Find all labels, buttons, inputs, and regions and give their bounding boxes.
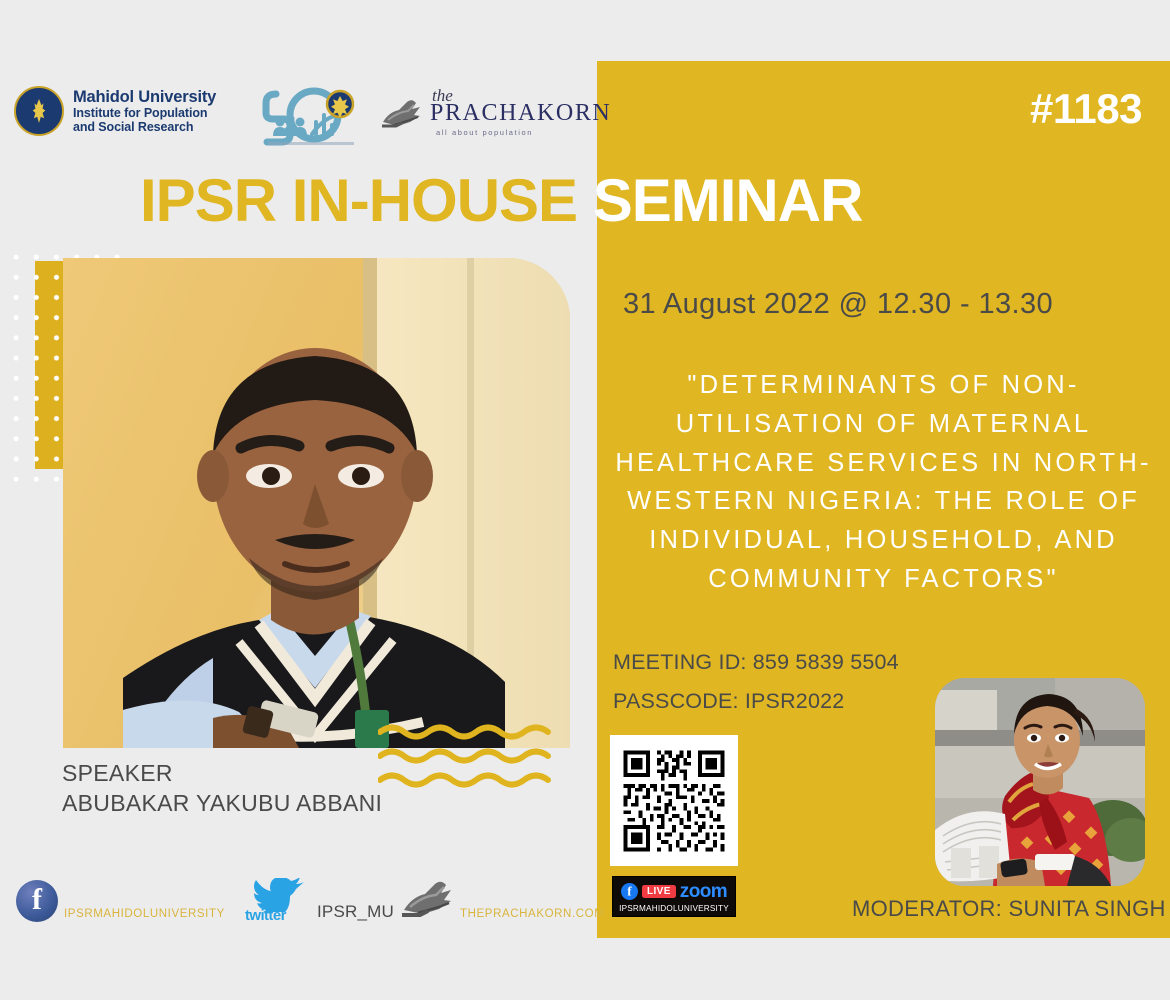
facebook-icon [16, 880, 58, 922]
moderator-photo [935, 678, 1145, 886]
moderator-label: MODERATOR: SUNITA SINGH [852, 896, 1166, 922]
social-link-twitter[interactable]: twitter IPSR_MU [245, 878, 394, 924]
headline-part-a: IPSR IN-HOUSE [140, 167, 593, 234]
meeting-id: MEETING ID: 859 5839 5504 [613, 650, 899, 675]
speaker-portrait-illustration [63, 258, 570, 748]
website-handle: THEPRACHAKORN.COM [460, 908, 604, 922]
prachakorn-dove-icon [380, 98, 426, 132]
speaker-photo [63, 258, 570, 748]
ipsr-50th-anniversary-icon [258, 82, 364, 148]
prachakorn-dove-icon [400, 878, 458, 922]
seminar-title: "Determinants of non-utilisation of mate… [607, 366, 1160, 599]
social-links-row: IPSRMAHIDOLUNIVERSITY twitter IPSR_MU T [0, 878, 597, 934]
event-date-time: 31 August 2022 @ 12.30 - 13.30 [623, 288, 1053, 321]
qr-code-icon[interactable] [610, 735, 738, 866]
page-title: IPSR IN-HOUSE SEMINAR [140, 171, 862, 231]
mahidol-name-line2: Institute for Population [73, 106, 216, 120]
speaker-name: ABUBAKAR YAKUBU ABBANI [62, 788, 382, 818]
mahidol-name-line3: and Social Research [73, 120, 216, 134]
prachakorn-logo: the PRACHAKORN all about population [380, 88, 585, 144]
twitter-bird-icon: twitter [245, 878, 313, 924]
speaker-role-label: SPEAKER [62, 758, 382, 788]
live-badge-handle: IPSRMAHIDOLUNIVERSITY [619, 904, 729, 913]
prachakorn-wordmark: PRACHAKORN [430, 100, 611, 127]
twitter-wordmark: twitter [245, 907, 286, 924]
seminar-poster: Mahidol University Institute for Populat… [0, 0, 1170, 1000]
meeting-passcode: PASSCODE: IPSR2022 [613, 689, 844, 714]
twitter-handle: IPSR_MU [317, 902, 394, 924]
live-stream-badge[interactable]: LIVE zoom IPSRMAHIDOLUNIVERSITY [612, 876, 736, 917]
speaker-caption: SPEAKER ABUBAKAR YAKUBU ABBANI [62, 758, 382, 819]
social-link-facebook[interactable]: IPSRMAHIDOLUNIVERSITY [16, 880, 225, 922]
mahidol-university-logo: Mahidol University Institute for Populat… [14, 86, 216, 136]
facebook-handle: IPSRMAHIDOLUNIVERSITY [64, 908, 225, 922]
facebook-icon [621, 883, 638, 900]
mahidol-name-line1: Mahidol University [73, 88, 216, 106]
live-label: LIVE [642, 885, 676, 898]
issue-number: #1183 [1030, 85, 1142, 133]
zoom-wordmark: zoom [680, 882, 727, 901]
decorative-wave-lines [378, 722, 576, 788]
social-link-website[interactable]: THEPRACHAKORN.COM [400, 878, 604, 922]
logo-row: Mahidol University Institute for Populat… [0, 82, 597, 152]
prachakorn-tagline: all about population [436, 128, 533, 137]
headline-part-b: SEMINAR [593, 167, 863, 234]
mahidol-seal-icon [14, 86, 64, 136]
moderator-portrait-illustration [935, 678, 1145, 886]
